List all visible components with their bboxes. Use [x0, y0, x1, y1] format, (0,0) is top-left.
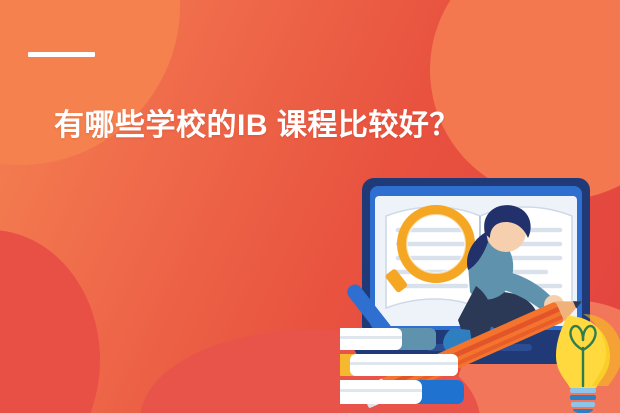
article-cover-banner: 有哪些学校的IB 课程比较好？: [0, 0, 620, 413]
student-research-illustration: [340, 168, 620, 413]
page-title: 有哪些学校的IB 课程比较好？: [54, 98, 484, 154]
lightbulb-icon: [556, 314, 620, 413]
background-blob-bottom-left: [0, 230, 100, 413]
accent-rule: [28, 52, 95, 57]
